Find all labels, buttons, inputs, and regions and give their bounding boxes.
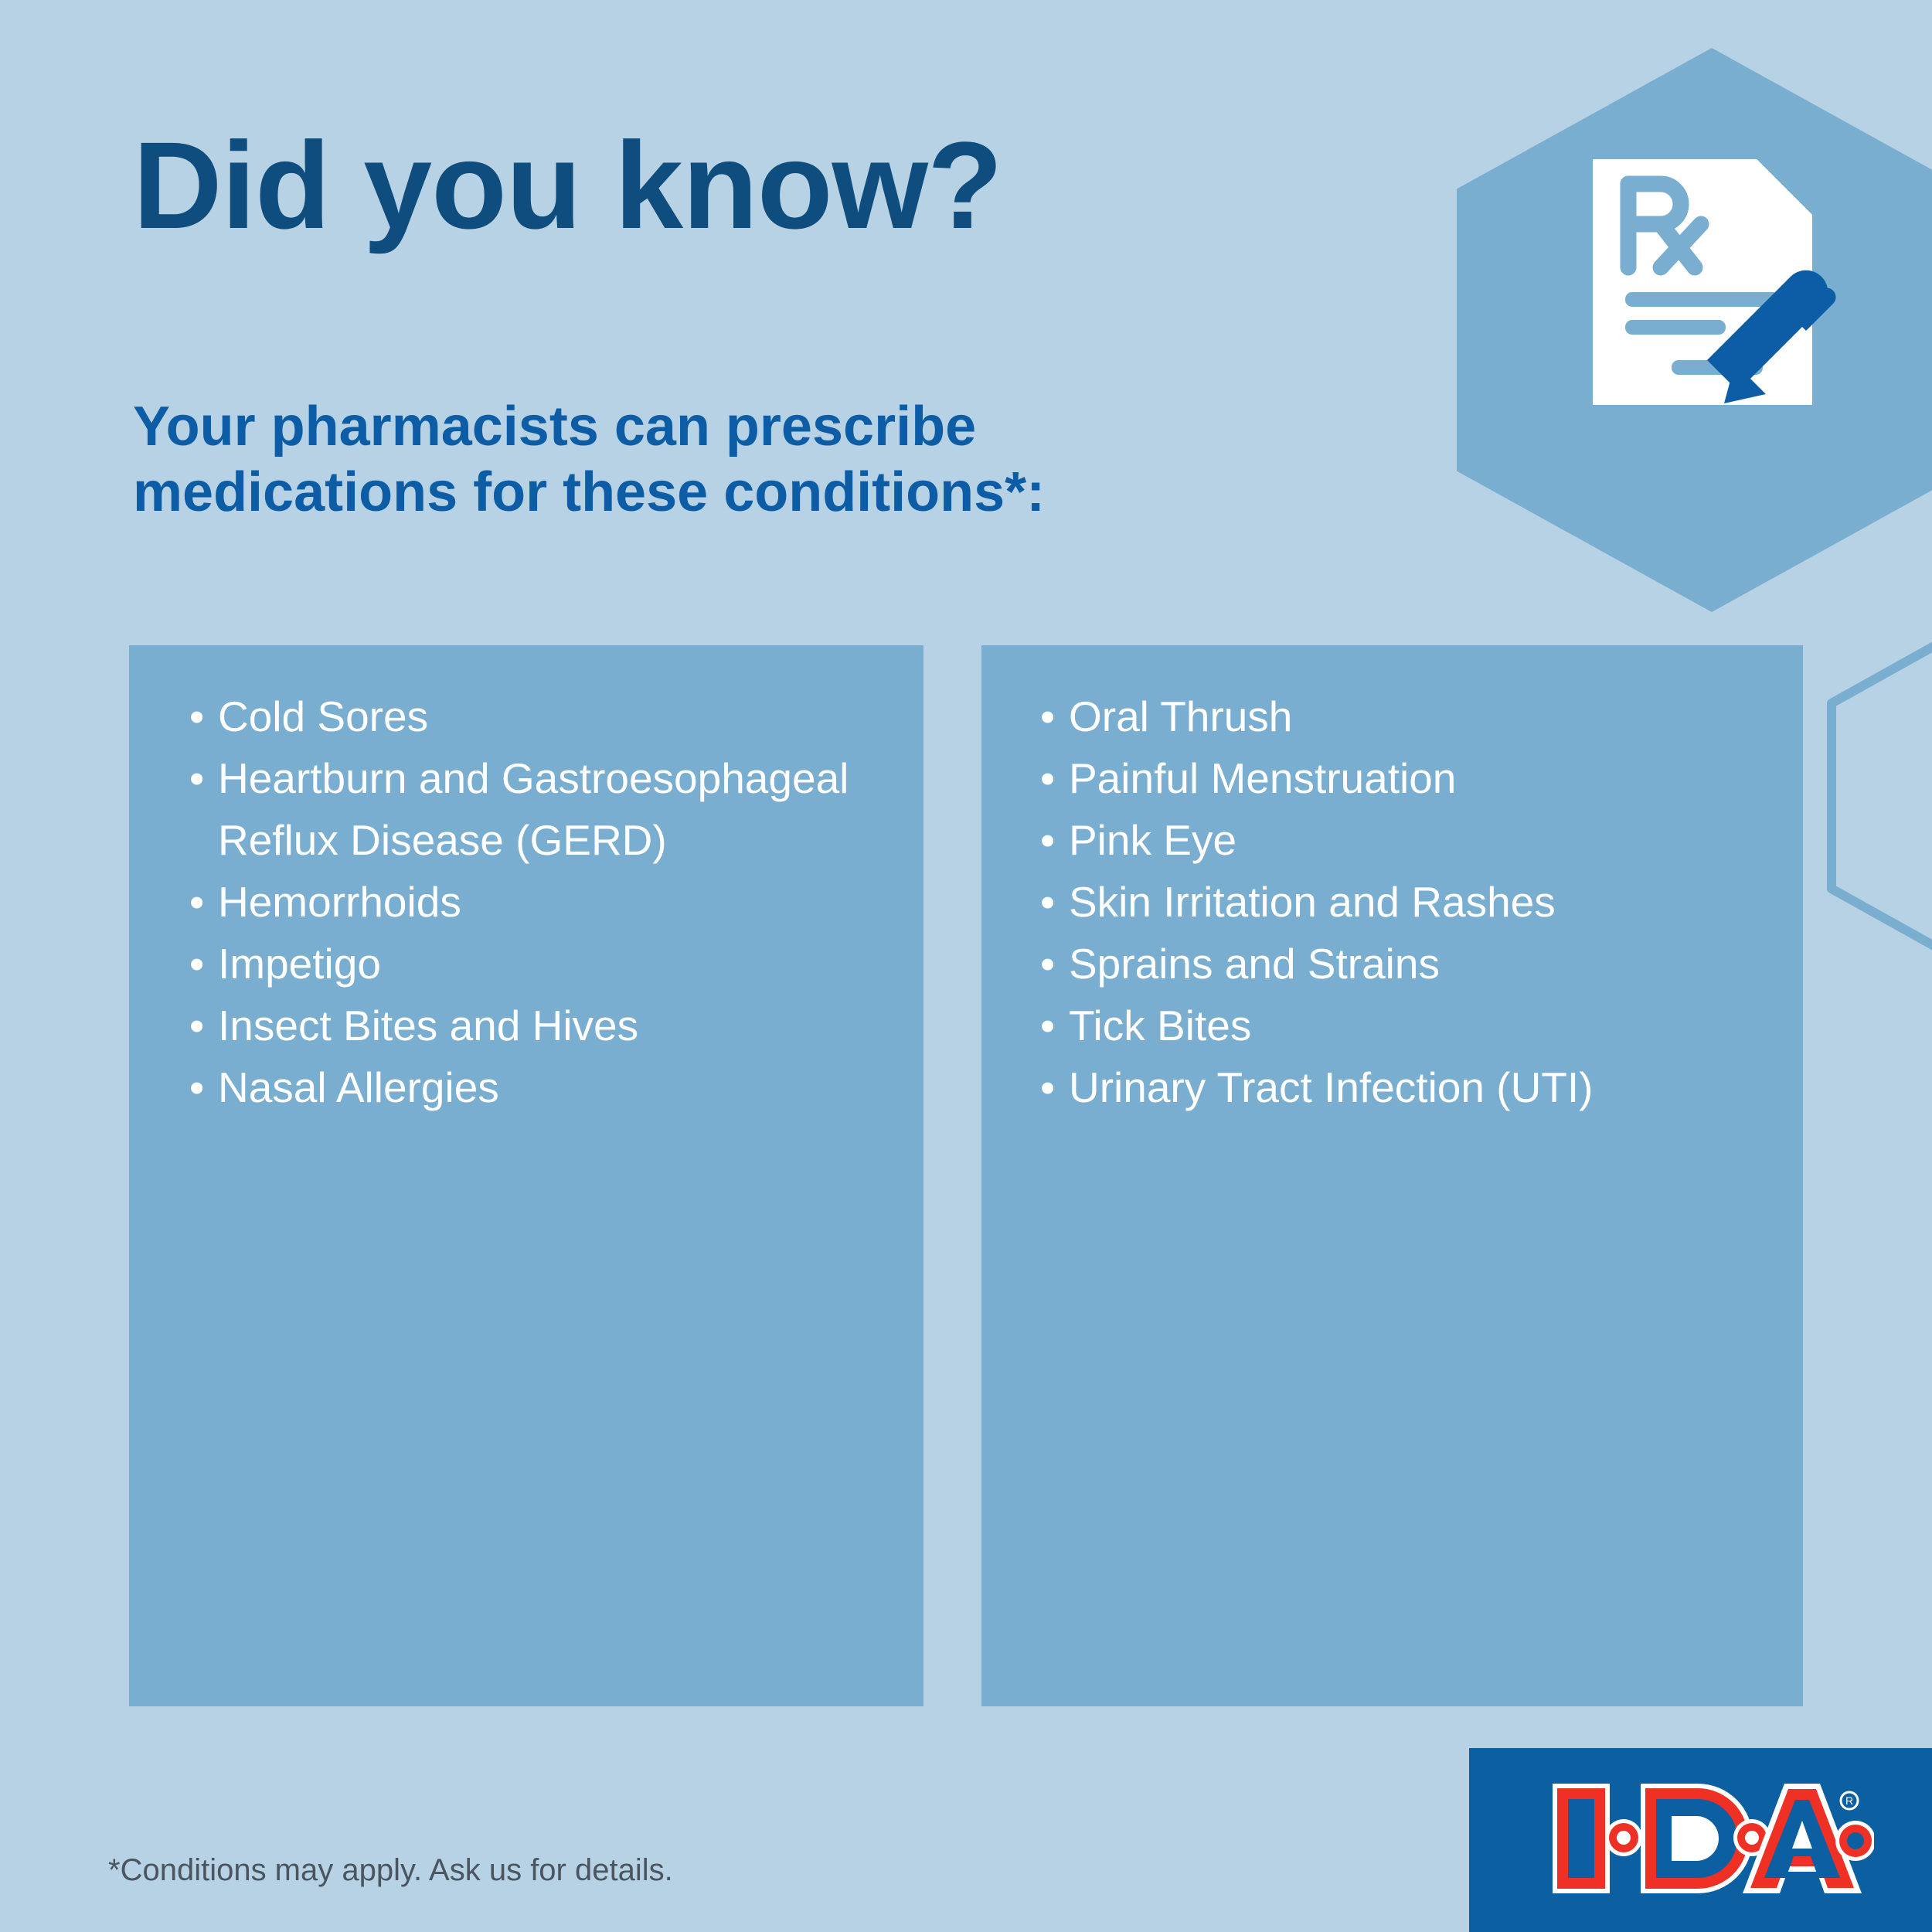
list-item-label: Nasal Allergies [218, 1063, 499, 1111]
bullet-icon: • [189, 871, 205, 933]
bullet-icon: • [189, 747, 205, 809]
bullet-icon: • [189, 685, 205, 747]
list-item-label: Sprains and Strains [1069, 940, 1440, 988]
list-item-label: Hemorrhoids [218, 878, 461, 926]
conditions-panel-right: • Oral Thrush • Painful Menstruation • P… [981, 645, 1803, 1706]
list-item-label: Skin Irritation and Rashes [1069, 878, 1556, 926]
svg-text:R: R [1845, 1794, 1853, 1807]
list-item-label: Urinary Tract Infection (UTI) [1069, 1063, 1593, 1111]
list-item: • Heartburn and Gastroesophageal Reflux … [185, 747, 903, 871]
list-item: • Urinary Tract Infection (UTI) [1036, 1056, 1793, 1118]
list-item-label: Painful Menstruation [1069, 754, 1456, 802]
list-item: • Cold Sores [185, 685, 903, 747]
hexagon-outline [1816, 611, 1932, 981]
bullet-icon: • [1040, 809, 1056, 871]
list-item: • Impetigo [185, 933, 903, 995]
list-item: • Sprains and Strains [1036, 933, 1793, 995]
page-title: Did you know? [133, 124, 1002, 247]
poster-canvas: Did you know? Your pharmacists can presc… [0, 0, 1932, 1932]
footnote-text: *Conditions may apply. Ask us for detail… [108, 1853, 673, 1888]
bullet-icon: • [1040, 871, 1056, 933]
list-item-label: Heartburn and Gastroesophageal Reflux Di… [218, 754, 849, 864]
list-item-label: Impetigo [218, 940, 381, 988]
bullet-icon: • [1040, 995, 1056, 1056]
list-item: • Skin Irritation and Rashes [1036, 871, 1793, 933]
bullet-icon: • [1040, 1056, 1056, 1118]
list-item: • Pink Eye [1036, 809, 1793, 871]
bullet-icon: • [1040, 933, 1056, 995]
ida-logo-box: R IDA [1469, 1748, 1932, 1932]
page-subtitle: Your pharmacists can prescribe medicatio… [133, 394, 1045, 526]
list-item-label: Pink Eye [1069, 816, 1236, 864]
list-item-label: Insect Bites and Hives [218, 1002, 638, 1049]
list-item: • Oral Thrush [1036, 685, 1793, 747]
list-item: • Hemorrhoids [185, 871, 903, 933]
list-item: • Nasal Allergies [185, 1056, 903, 1118]
bullet-icon: • [189, 1056, 205, 1118]
bullet-icon: • [189, 933, 205, 995]
list-item: • Tick Bites [1036, 995, 1793, 1056]
bullet-icon: • [1040, 685, 1056, 747]
bullet-icon: • [1040, 747, 1056, 809]
list-item-label: Oral Thrush [1069, 692, 1292, 740]
list-item: • Painful Menstruation [1036, 747, 1793, 809]
list-item: • Insect Bites and Hives [185, 995, 903, 1056]
list-item-label: Tick Bites [1069, 1002, 1251, 1049]
rx-prescription-pad-icon [1588, 155, 1851, 410]
ida-logo-label: IDA [1469, 1748, 1470, 1749]
bullet-icon: • [189, 995, 205, 1056]
conditions-list-left: • Cold Sores • Heartburn and Gastroesoph… [185, 685, 903, 1118]
ida-logo-icon: R [1549, 1781, 1874, 1896]
subtitle-line-2: medications for these conditions*: [133, 460, 1045, 526]
subtitle-line-1: Your pharmacists can prescribe [133, 394, 1045, 460]
list-item-label: Cold Sores [218, 692, 428, 740]
conditions-panel-left: • Cold Sores • Heartburn and Gastroesoph… [129, 645, 923, 1706]
conditions-list-right: • Oral Thrush • Painful Menstruation • P… [1036, 685, 1793, 1118]
